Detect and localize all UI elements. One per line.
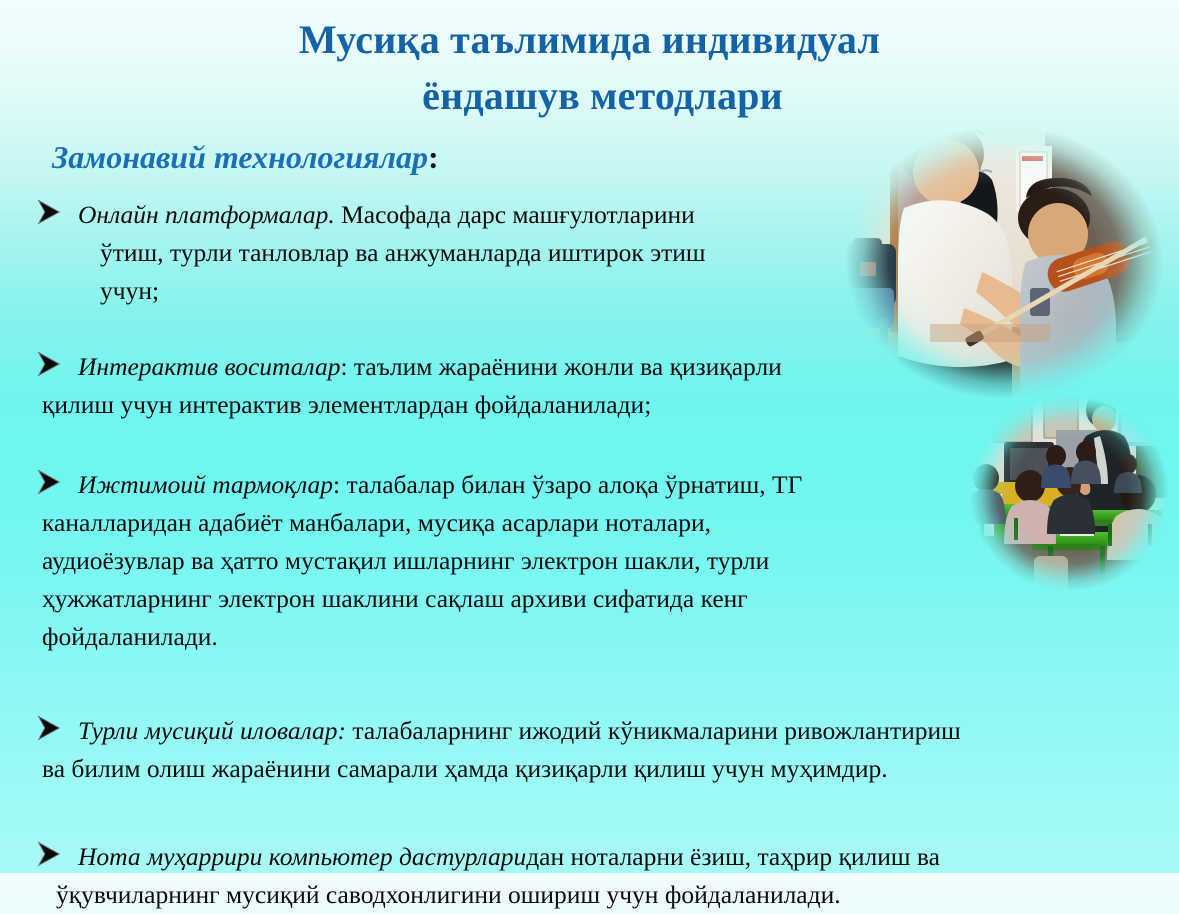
subtitle-text: Замонавий технологиялар	[52, 139, 428, 175]
title-line-2: ёндашув методлари	[0, 68, 1179, 124]
list-item-line-2: каналларидан адабиёт манбалари, мусиқа а…	[42, 504, 978, 542]
list-item: Нота муҳаррири компьютер дастурларидан н…	[0, 838, 1179, 914]
title-line-1: Мусиқа таълимида индивидуал	[0, 12, 1179, 68]
subtitle-colon: :	[428, 139, 439, 175]
list-item: Турли мусиқий иловалар: талабаларнинг иж…	[0, 712, 1179, 788]
list-item: Интерактив воситалар: таълим жараёнини ж…	[0, 348, 1179, 424]
arrowhead-bullet-icon	[36, 468, 62, 496]
list-item-line-1: Масофада дарс машғулотларини	[335, 200, 695, 229]
list-item-line-3: учун;	[78, 272, 888, 310]
list-item-line-1: : талабалар билан ўзаро алоқа ўрнатиш, Т…	[333, 470, 802, 499]
arrowhead-bullet-icon	[36, 350, 62, 378]
bullet-list: Онлайн платформалар. Масофада дарс машғу…	[0, 196, 1179, 914]
list-item-line-2: ва билим олиш жараёнини самарали ҳамда қ…	[42, 750, 1168, 788]
list-item-line-2: ўқувчиларнинг мусиқий саводхонлигини оши…	[56, 876, 1168, 914]
list-item-text: Турли мусиқий иловалар: талабаларнинг иж…	[78, 712, 1168, 788]
list-item-line-4: ҳужжатларнинг электрон шаклини сақлаш ар…	[42, 580, 978, 618]
list-item-text: Интерактив воситалар: таълим жараёнини ж…	[78, 348, 1008, 424]
list-item-lead: Онлайн платформалар.	[78, 200, 335, 229]
arrowhead-bullet-icon	[36, 840, 62, 868]
section-subtitle: Замонавий технологиялар:	[52, 136, 439, 178]
list-item-line-1: : таълим жараёнини жонли ва қизиқарли	[340, 352, 781, 381]
page-title: Мусиқа таълимида индивидуал ёндашув мето…	[0, 12, 1179, 124]
list-item-line-5: фойдаланилади.	[42, 618, 978, 656]
list-item-text: Ижтимоий тармоқлар: талабалар билан ўзар…	[78, 466, 978, 656]
list-item-lead: Интерактив воситалар	[78, 352, 340, 381]
list-item-line-2: ўтиш, турли танловлар ва анжуманларда иш…	[78, 234, 888, 272]
list-item-text: Нота муҳаррири компьютер дастурларидан н…	[78, 838, 1168, 914]
list-item-text: Онлайн платформалар. Масофада дарс машғу…	[78, 196, 888, 310]
list-item: Онлайн платформалар. Масофада дарс машғу…	[0, 196, 1179, 310]
arrowhead-bullet-icon	[36, 198, 62, 226]
list-item: Ижтимоий тармоқлар: талабалар билан ўзар…	[0, 466, 1179, 656]
list-item-line-3: аудиоёзувлар ва ҳатто мустақил ишларнинг…	[42, 542, 978, 580]
list-item-lead: Нота муҳаррири компьютер дастурлари	[78, 842, 526, 871]
list-item-line-1: талабаларнинг ижодий кўникмаларини ривож…	[346, 716, 961, 745]
arrowhead-bullet-icon	[36, 714, 62, 742]
list-item-lead: Турли мусиқий иловалар:	[78, 716, 346, 745]
list-item-lead: Ижтимоий тармоқлар	[78, 470, 333, 499]
list-item-line-2: қилиш учун интерактив элементлардан фойд…	[42, 386, 1008, 424]
list-item-line-1: дан ноталарни ёзиш, таҳрир қилиш ва	[526, 842, 940, 871]
